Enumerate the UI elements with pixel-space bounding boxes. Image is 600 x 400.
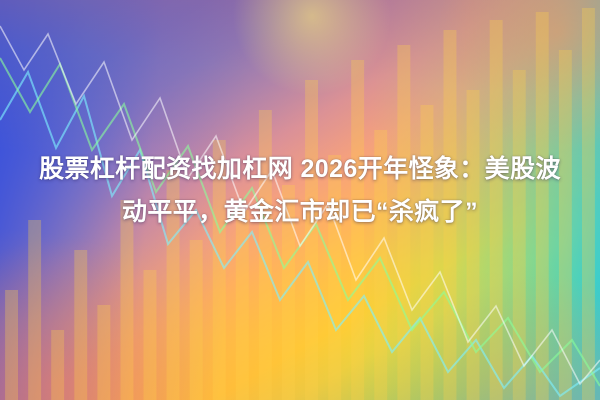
headline-line-2: 动平平，黄金汇市却已“杀疯了” — [16, 191, 584, 234]
chart-line-cyan — [0, 72, 600, 396]
chart-bar — [144, 270, 157, 400]
chart-bar — [190, 240, 203, 400]
chart-bar — [51, 330, 64, 400]
chart-bar — [305, 80, 318, 400]
chart-bar — [467, 90, 480, 400]
chart-bar — [28, 220, 41, 400]
headline-line-1: 股票杠杆配资找加杠网 2026开年怪象：美股波 — [16, 148, 584, 191]
chart-bar — [74, 250, 87, 400]
headline: 股票杠杆配资找加杠网 2026开年怪象：美股波 动平平，黄金汇市却已“杀疯了” — [0, 148, 600, 234]
chart-bar — [513, 70, 526, 400]
thumbnail-canvas: 股票杠杆配资找加杠网 2026开年怪象：美股波 动平平，黄金汇市却已“杀疯了” — [0, 0, 600, 400]
chart-bar — [5, 290, 18, 400]
chart-bar — [97, 305, 110, 400]
